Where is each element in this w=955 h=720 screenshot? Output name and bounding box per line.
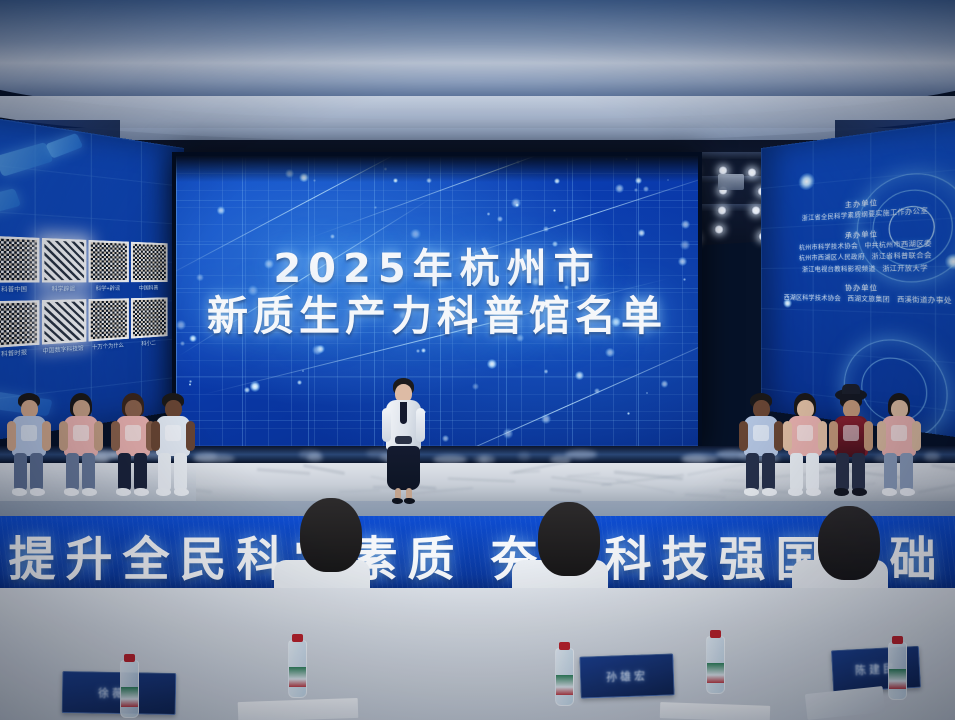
qr-code-label: 中国科普 [131, 284, 166, 292]
guest-leg [790, 453, 803, 491]
organizer-name: 杭州市西湖区人民政府 [799, 255, 865, 263]
presenter-collar [400, 402, 407, 424]
qr-code-label: 科普中国 [0, 285, 37, 294]
glow-node [487, 212, 490, 215]
glow-node [680, 240, 690, 250]
guest-arm [783, 421, 792, 451]
glow-node [189, 383, 191, 385]
stage-band-highlight [307, 453, 322, 462]
glow-node [643, 186, 649, 192]
qr-code-label: 科学+辟谣 [89, 284, 127, 292]
qr-code-icon[interactable] [0, 300, 39, 348]
banner-slogan-part1: 提升全民科学素质 [9, 533, 465, 588]
guest-shoe [744, 488, 759, 496]
shirt-graphic [165, 425, 181, 441]
bottle-label [707, 663, 724, 683]
glow-node [374, 206, 377, 209]
glow-node [244, 387, 250, 393]
qr-code-item[interactable]: 科普中国 [0, 236, 37, 294]
glow-node [515, 203, 518, 206]
bottle-cap [124, 654, 135, 662]
bottle-label [289, 667, 306, 687]
seated-guest [6, 393, 52, 503]
spotlight [751, 206, 761, 215]
glow-node [330, 234, 335, 239]
shirt-graphic [73, 425, 89, 441]
glow-node [421, 348, 426, 353]
organizer-name: 西湖文旅集团 [847, 296, 890, 304]
guest-arm [94, 421, 103, 451]
qr-code-icon[interactable] [89, 298, 129, 341]
guest-leg [900, 453, 913, 491]
stage-band-highlight [194, 452, 217, 461]
guest-shoe [788, 488, 803, 496]
guest-arm [42, 421, 51, 451]
audience-head [300, 498, 362, 572]
qr-code-item[interactable]: 科学+辟谣 [89, 240, 127, 292]
water-bottle[interactable] [120, 660, 139, 718]
guest-shoe [174, 488, 189, 496]
guest-leg [134, 453, 147, 491]
guest-arm [151, 421, 160, 451]
guest-arm [59, 421, 68, 451]
shirt-graphic [843, 425, 859, 441]
glow-node [627, 412, 630, 415]
spotlight [717, 206, 727, 215]
name-placard: 陈建民 [831, 646, 921, 693]
guest-shoe [134, 488, 149, 496]
guest-leg [118, 453, 131, 491]
seated-guest [828, 393, 874, 503]
guest-shoe [64, 488, 79, 496]
organizer-name: 浙江电视台教科影视频道 [802, 266, 876, 273]
guest-leg [762, 453, 775, 491]
audience-head [538, 502, 600, 576]
guest-arm [818, 421, 827, 451]
organizer-name: 西溪街道办事处 [897, 297, 952, 305]
qr-code-item[interactable]: 科学辟谣 [42, 238, 84, 293]
placard-name: 孙雄宏 [581, 666, 674, 685]
qr-code-grid[interactable]: 科普中国科学辟谣科学+辟谣中国科普科普时报中国数字科技馆十万个为什么科小二 [0, 236, 179, 359]
qr-code-item[interactable]: 十万个为什么 [89, 298, 127, 351]
conference-stage-photo: 科普中国科学辟谣科学+辟谣中国科普科普时报中国数字科技馆十万个为什么科小二 主办… [0, 0, 955, 720]
document-paper [660, 702, 770, 720]
bottle-label [121, 687, 138, 707]
glow-node [531, 277, 540, 286]
name-placard: 孙雄宏 [579, 653, 674, 698]
qr-code-item[interactable]: 科普时报 [0, 300, 37, 359]
organizer-name: 杭州市科学技术协会 [799, 243, 858, 251]
glow-node [678, 257, 686, 265]
qr-code-icon[interactable] [89, 240, 129, 282]
bottle-cap [710, 630, 721, 638]
presenter-shoe [392, 498, 403, 504]
seated-guest [738, 393, 784, 503]
circuit-pattern-fine [176, 156, 698, 448]
guest-arm [739, 421, 748, 451]
name-placard: 徐薇峰 [62, 671, 177, 715]
guest-leg [836, 453, 849, 491]
guest-arm [912, 421, 921, 451]
organizer-name: 浙江省科普联合会 [872, 253, 932, 261]
seated-guest [58, 393, 104, 503]
guest-arm [111, 421, 120, 451]
guest-arm [864, 421, 873, 451]
seated-guest [782, 393, 828, 503]
guest-arm [829, 421, 838, 451]
glow-node [615, 184, 624, 193]
glow-node [316, 345, 324, 353]
qr-code-item[interactable]: 中国数字科技馆 [42, 299, 84, 355]
qr-code-item[interactable]: 科小二 [131, 297, 166, 348]
guest-shoe [834, 488, 849, 496]
water-bottle[interactable] [888, 642, 907, 700]
glow-node [217, 206, 225, 214]
guest-shoe [12, 488, 27, 496]
water-bottle[interactable] [555, 648, 574, 706]
guest-shoe [30, 488, 45, 496]
document-paper [238, 698, 359, 720]
glow-node [214, 317, 221, 324]
organizer-name: 浙江开放大学 [882, 265, 928, 272]
qr-code-icon[interactable] [42, 238, 86, 283]
guest-leg [66, 453, 79, 491]
bottle-cap [559, 642, 570, 650]
guest-shoe [900, 488, 915, 496]
guest-leg [806, 453, 819, 491]
water-bottle[interactable] [288, 640, 307, 698]
glow-node [410, 229, 421, 240]
guest-shoe [156, 488, 171, 496]
presenter-skirt [387, 446, 420, 490]
glow-node [487, 359, 497, 369]
presenter [378, 378, 428, 504]
presenter-hands [395, 436, 412, 444]
qr-code-icon[interactable] [131, 297, 168, 338]
organizer-heading: 协办单位 [768, 281, 955, 294]
qr-code-label: 科学辟谣 [42, 285, 84, 293]
bottle-cap [292, 634, 303, 642]
screen-top-shadow [176, 156, 698, 182]
glow-node [297, 380, 302, 385]
shirt-graphic [753, 425, 769, 441]
stage-band-highlight [565, 450, 596, 459]
organizer-name: 西湖区科学技术协会 [784, 295, 841, 302]
light-fixture [718, 174, 744, 190]
hat-crown [842, 384, 860, 394]
guest-leg [884, 453, 897, 491]
organizer-name: 中共杭州市西湖区委 [865, 241, 932, 250]
water-bottle[interactable] [706, 636, 725, 694]
audience-head [818, 506, 880, 580]
glow-node [196, 274, 203, 281]
presenter-arm-left [382, 408, 391, 442]
glow-node [575, 371, 584, 380]
glow-node [180, 341, 184, 345]
qr-code-icon[interactable] [0, 236, 39, 283]
placard-name: 徐薇峰 [63, 684, 175, 702]
glow-node [528, 266, 533, 271]
stage-band-highlight [518, 452, 531, 461]
guest-arm [7, 421, 16, 451]
guest-shoe [882, 488, 897, 496]
guest-shoe [82, 488, 97, 496]
main-led-screen [176, 156, 698, 448]
glow-node [611, 317, 621, 327]
qr-code-icon[interactable] [131, 242, 168, 282]
glow-node [250, 381, 261, 392]
organizer-credits: 主办单位浙江省全民科学素质纲要实施工作办公室承办单位杭州市科学技术协会中共杭州市… [761, 181, 955, 309]
guest-leg [158, 453, 171, 491]
glow-node [605, 348, 614, 357]
guest-leg [174, 453, 187, 491]
guest-shoe [852, 488, 867, 496]
glow-node [661, 380, 668, 387]
guest-shoe [806, 488, 821, 496]
shirt-graphic [797, 425, 813, 441]
glow-node [442, 435, 449, 442]
guest-shoe [116, 488, 131, 496]
guest-leg [14, 453, 27, 491]
guest-leg [746, 453, 759, 491]
guest-arm [877, 421, 886, 451]
glow-node [497, 216, 503, 222]
seated-guest [876, 393, 922, 503]
presenter-shoe [404, 498, 415, 504]
presenter-arm-right [416, 408, 425, 442]
bottle-label [889, 669, 906, 689]
seated-guest [150, 393, 196, 503]
qr-code-item[interactable]: 中国科普 [131, 242, 166, 292]
qr-code-icon[interactable] [42, 299, 86, 345]
shirt-graphic [125, 425, 141, 441]
bottle-label [556, 675, 573, 695]
glow-node [564, 285, 568, 289]
shirt-graphic [21, 425, 37, 441]
glow-node [544, 369, 549, 374]
guest-leg [30, 453, 43, 491]
guest-leg [82, 453, 95, 491]
guest-leg [852, 453, 865, 491]
bottle-cap [892, 636, 903, 644]
shirt-graphic [891, 425, 907, 441]
glow-node [176, 320, 186, 330]
glow-node [356, 307, 365, 316]
glow-node [683, 278, 686, 281]
guest-shoe [762, 488, 777, 496]
guest-arm [186, 421, 195, 451]
